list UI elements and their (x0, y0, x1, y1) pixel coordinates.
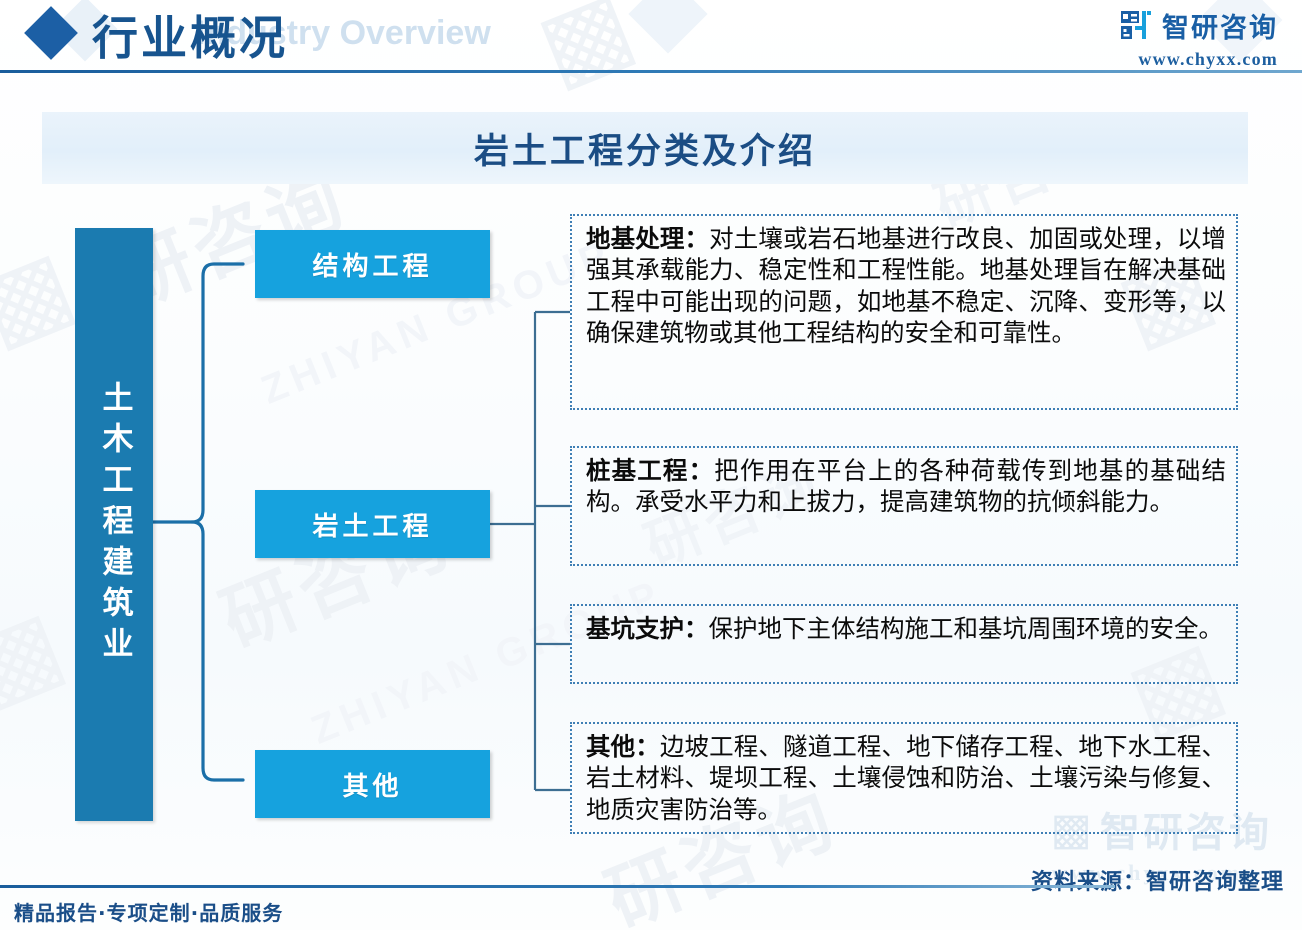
chyxx-logo-icon (1120, 10, 1153, 41)
branch-node-other[interactable]: 其他 (255, 750, 490, 818)
chart-title-band: 岩土工程分类及介绍 (42, 112, 1248, 184)
decorative-diamond (628, 0, 707, 54)
header-title-cn: 行业概况 (92, 2, 288, 68)
branch-node-label: 其他 (342, 766, 402, 803)
description-panel-excavation-support: 基坑支护：保护地下主体结构施工和基坑周围环境的安全。 (570, 604, 1238, 684)
root-node[interactable]: 土木工程建筑业 (75, 228, 153, 821)
description-body: 保护地下主体结构施工和基坑周围环境的安全。 (709, 614, 1224, 643)
branch-node-label: 岩土工程 (312, 506, 432, 543)
description-term: 基坑支护： (586, 614, 709, 643)
description-text: 地基处理：对土壤或岩石地基进行改良、加固或处理，以增强其承载能力、稳定性和工程性… (586, 223, 1226, 348)
root-node-label: 土木工程建筑业 (99, 381, 130, 668)
branch-node-label: 结构工程 (312, 246, 432, 283)
page-header: Industry Overview 行业概况 (0, 0, 1302, 78)
footer-tagline: 精品报告·专项定制·品质服务 (14, 897, 283, 926)
description-text: 其他：边坡工程、隧道工程、地下储存工程、地下水工程、岩土材料、堤坝工程、土壤侵蚀… (586, 731, 1226, 825)
description-term: 其他： (586, 732, 660, 761)
header-divider (0, 70, 1302, 73)
branch-node-geotechnical-engineering[interactable]: 岩土工程 (255, 490, 490, 558)
page-title: 岩土工程分类及介绍 (474, 123, 816, 174)
description-text: 基坑支护：保护地下主体结构施工和基坑周围环境的安全。 (586, 613, 1226, 644)
branch-node-structural-engineering[interactable]: 结构工程 (255, 230, 490, 298)
source-note: 资料来源：智研咨询整理 (1031, 864, 1284, 896)
brand-url[interactable]: www.chyxx.com (1120, 49, 1278, 70)
slide-page: 研咨询 研咨询 研咨询 研咨询 研咨询 ZHIYAN GROUP ZHIYAN … (0, 0, 1302, 930)
description-panel-pile-foundation: 桩基工程：把作用在平台上的各种荷载传到地基的基础结构。承受水平力和上拔力，提高建… (570, 446, 1238, 566)
description-panel-other: 其他：边坡工程、隧道工程、地下储存工程、地下水工程、岩土材料、堤坝工程、土壤侵蚀… (570, 722, 1238, 834)
brand-row: 智研咨询 (1120, 6, 1278, 45)
brand-logo[interactable]: 智研咨询 www.chyxx.com (1120, 6, 1278, 70)
description-body: 边坡工程、隧道工程、地下储存工程、地下水工程、岩土材料、堤坝工程、土壤侵蚀和防治… (586, 732, 1226, 824)
description-text: 桩基工程：把作用在平台上的各种荷载传到地基的基础结构。承受水平力和上拔力，提高建… (586, 455, 1226, 518)
description-term: 地基处理： (586, 224, 709, 253)
description-panel-foundation-treatment: 地基处理：对土壤或岩石地基进行改良、加固或处理，以增强其承载能力、稳定性和工程性… (570, 214, 1238, 410)
footer-divider (0, 885, 1115, 888)
description-term: 桩基工程： (586, 456, 714, 485)
brand-name: 智研咨询 (1162, 6, 1278, 45)
